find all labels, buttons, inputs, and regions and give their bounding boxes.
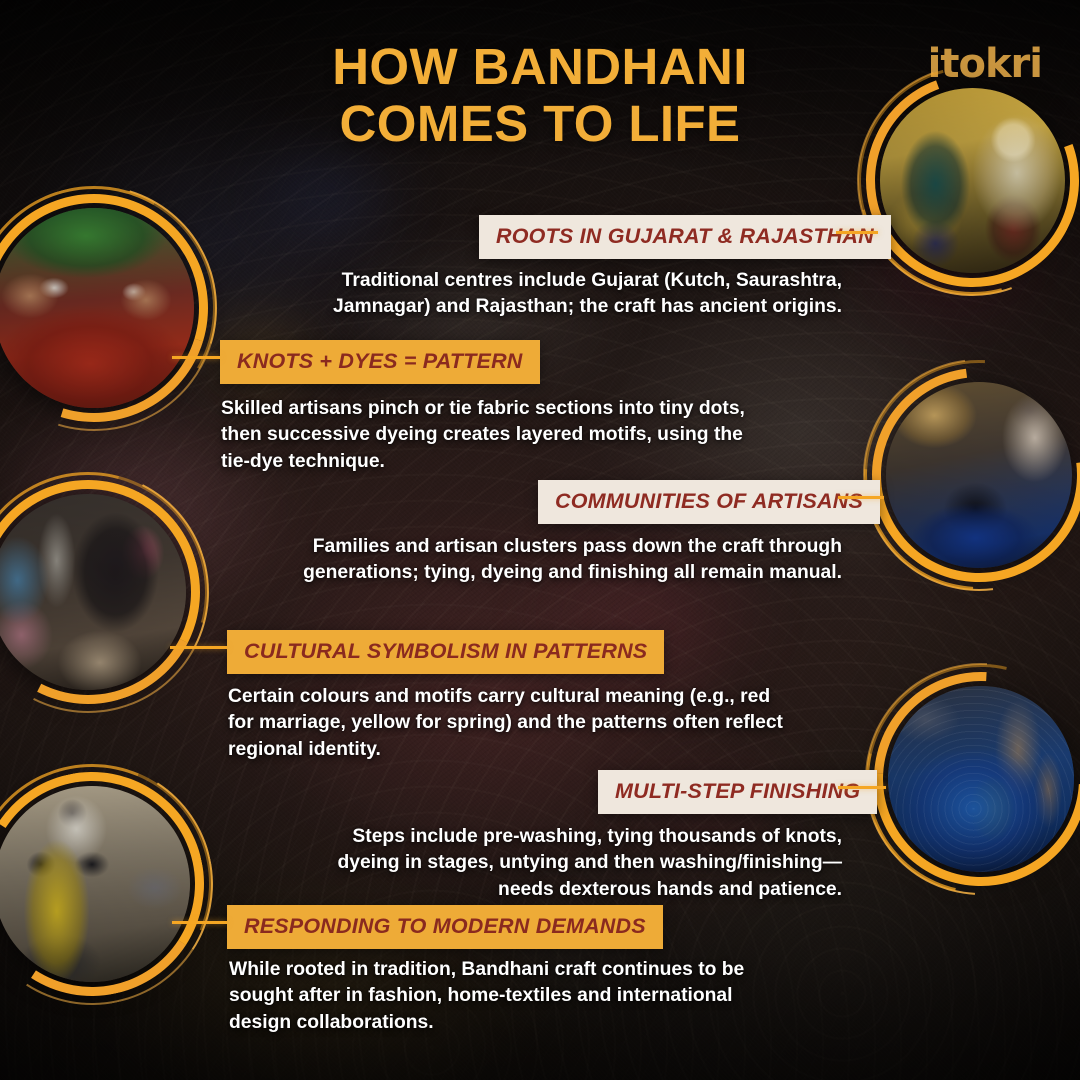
connector-line-communities xyxy=(838,496,884,499)
photo-frame xyxy=(880,88,1065,273)
photo-women-tying-knots xyxy=(880,88,1065,273)
photo-hands-pinching-red-fabric xyxy=(0,208,194,408)
photo-image-indigo-vat xyxy=(888,686,1074,872)
brand-logo-text: itokri xyxy=(926,40,1042,88)
connector-line-multi-step-finishing xyxy=(838,786,886,789)
photo-woman-in-shawl-tying xyxy=(0,494,186,690)
connector-line-modern-demands xyxy=(172,921,227,924)
photo-frame xyxy=(886,382,1072,568)
section-body-knots-dyes: Skilled artisans pinch or tie fabric sec… xyxy=(221,396,766,475)
section-body-cultural-symbolism: Certain colours and motifs carry cultura… xyxy=(228,684,788,763)
section-label-knots-dyes: KNOTS + DYES = PATTERN xyxy=(220,340,540,384)
photo-frame xyxy=(0,786,190,982)
infographic-poster: HOW BANDHANI COMES TO LIFE itokri xyxy=(0,0,1080,1080)
section-label-roots: ROOTS IN GUJARAT & RAJASTHAN xyxy=(479,215,891,259)
section-label-communities: COMMUNITIES OF ARTISANS xyxy=(538,480,880,524)
connector-line-cultural-symbolism xyxy=(170,646,227,649)
section-body-modern-demands: While rooted in tradition, Bandhani craf… xyxy=(229,957,784,1036)
page-title-line-1: HOW BANDHANI xyxy=(0,38,1080,95)
photo-indigo-dye-vat xyxy=(888,686,1074,872)
photo-frame xyxy=(888,686,1074,872)
section-body-communities: Families and artisan clusters pass down … xyxy=(250,534,842,587)
section-label-multi-step-finishing: MULTI-STEP FINISHING xyxy=(598,770,877,814)
connector-line-knots-dyes xyxy=(172,356,220,359)
connector-line-roots xyxy=(836,231,878,234)
section-label-modern-demands: RESPONDING TO MODERN DEMANDS xyxy=(227,905,663,949)
section-body-roots: Traditional centres include Gujarat (Kut… xyxy=(255,268,842,321)
photo-artisan-lifting-yellow-fabric xyxy=(0,786,190,982)
section-label-cultural-symbolism: CULTURAL SYMBOLISM IN PATTERNS xyxy=(227,630,664,674)
photo-frame xyxy=(0,494,186,690)
photo-image-woman-shawl xyxy=(0,494,186,690)
photo-image-hands-red-fabric xyxy=(0,208,194,408)
section-body-multi-step-finishing: Steps include pre-washing, tying thousan… xyxy=(300,824,842,903)
photo-frame xyxy=(0,208,194,408)
photo-image-artisan-dyeing xyxy=(886,382,1072,568)
photo-image-women-tying-knots xyxy=(880,88,1065,273)
photo-artisan-dyeing-in-tub xyxy=(886,382,1072,568)
photo-image-yellow-fabric xyxy=(0,786,190,982)
brand-logo[interactable]: itokri xyxy=(926,40,1042,88)
